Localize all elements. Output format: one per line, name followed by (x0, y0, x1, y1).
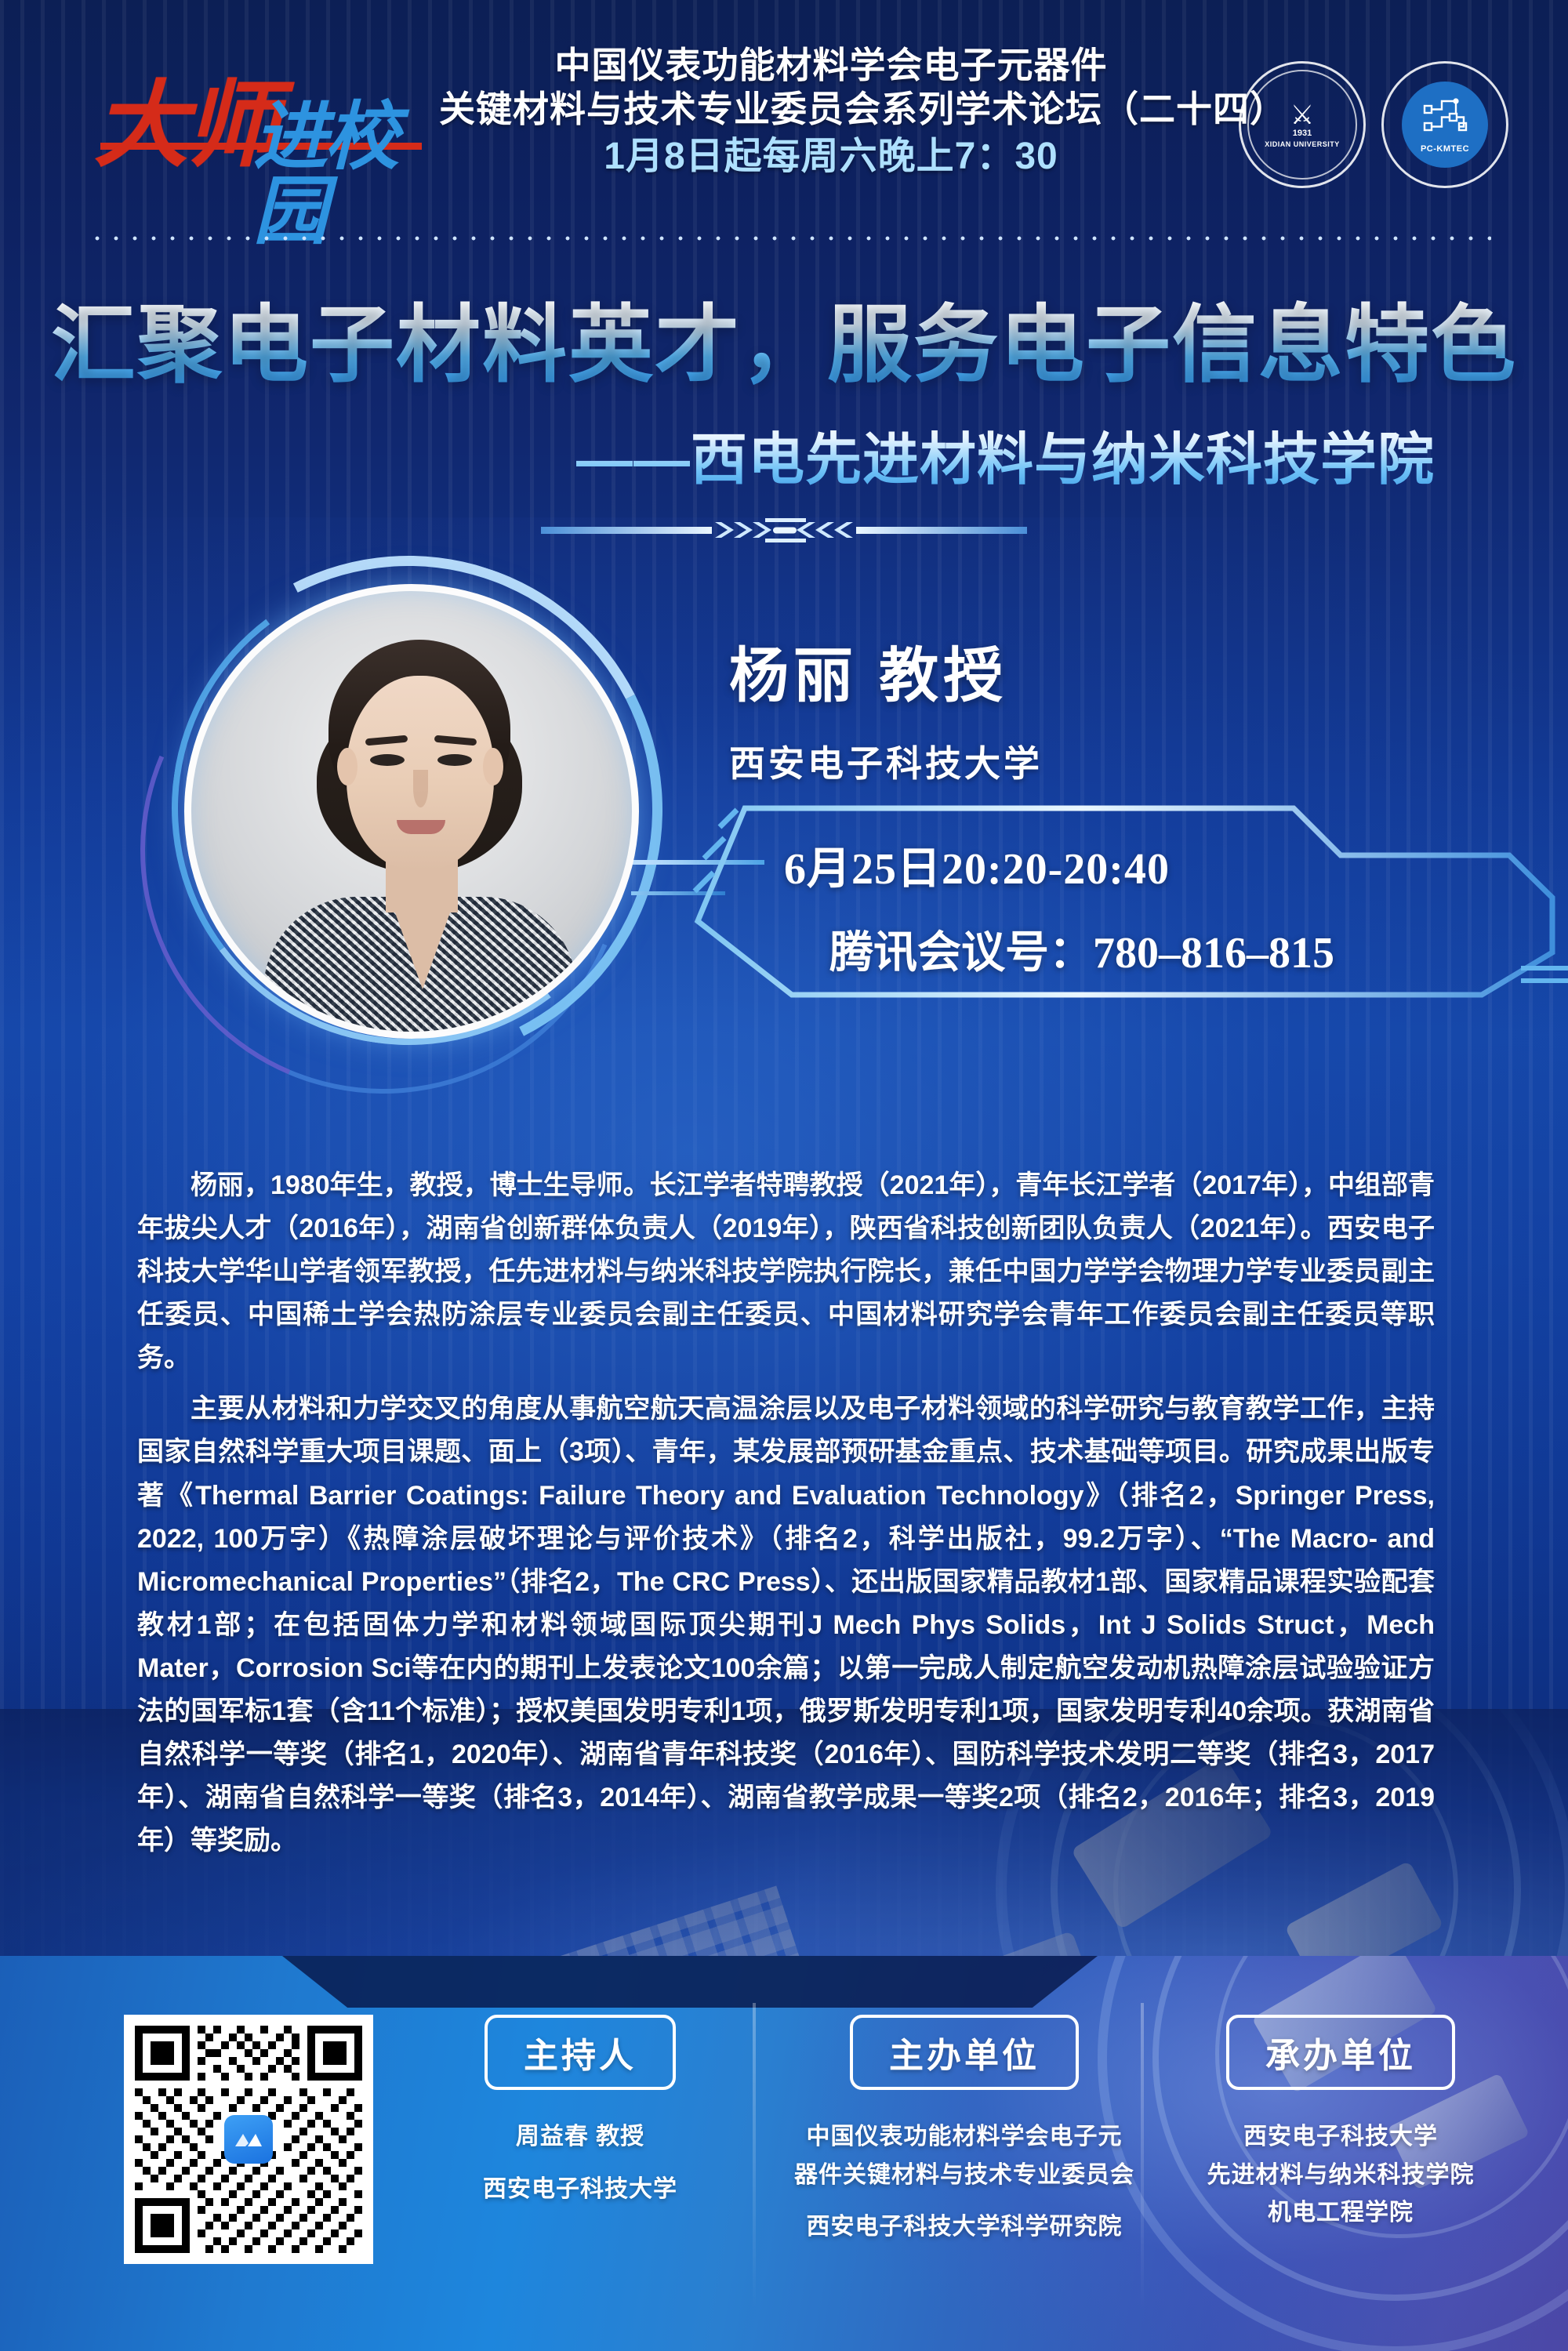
meeting-id-label: 腾讯会议号： (829, 929, 1093, 978)
host-line-2: 西安电子科技大学 (416, 2171, 745, 2209)
poster-canvas: 大师 进校园 中国仪表功能材料学会电子元器件 关键材料与技术专业委员会系列学术论… (0, 0, 1568, 2351)
page-subtitle: ——西电先进材料与纳米科技学院 (0, 413, 1568, 495)
host-line-1: 周益春 教授 (416, 2118, 745, 2157)
host-label: 主持人 (485, 2015, 676, 2090)
speaker-photo (191, 591, 632, 1032)
footer-column-host: 主持人 周益春 教授 西安电子科技大学 (416, 2015, 745, 2208)
brand-logo: 大师 进校园 (93, 56, 422, 201)
seal-en-name: PC-KMTEC (1421, 144, 1469, 154)
seal-core: ⚔ 1931 XIDIAN UNIVERSITY (1259, 82, 1345, 168)
title-block: 汇聚电子材料英才，服务电子信息特色 ——西电先进材料与纳米科技学院 (0, 298, 1568, 495)
footer-column-organizer: 主办单位 中国仪表功能材料学会电子元 器件关键材料与技术专业委员会 西安电子科技… (792, 2015, 1137, 2247)
speaker-affiliation: 西安电子科技大学 (729, 735, 1466, 787)
logo-text-red: 大师 (94, 78, 276, 172)
avatar (184, 584, 639, 1039)
header-line-1: 中国仪表功能材料学会电子元器件 (439, 43, 1223, 87)
header-title-block: 中国仪表功能材料学会电子元器件 关键材料与技术专业委员会系列学术论坛（二十四） … (439, 43, 1223, 180)
meeting-time: 6月25日20:20-20:40 (784, 833, 1490, 897)
footer-notch (282, 1956, 1098, 2008)
executor-line-1: 西安电子科技大学 (1176, 2118, 1505, 2157)
bird-emblem-icon: ⚔ (1290, 102, 1314, 129)
speaker-biography: 杨丽，1980年生，教授，博士生导师。长江学者特聘教授（2021年），青年长江学… (137, 1164, 1435, 1870)
qr-code[interactable] (124, 2015, 373, 2264)
executor-lines: 西安电子科技大学 先进材料与纳米科技学院 机电工程学院 (1176, 2118, 1505, 2233)
host-lines: 周益春 教授 西安电子科技大学 (416, 2118, 745, 2208)
xidian-university-seal: ⚔ 1931 XIDIAN UNIVERSITY (1239, 61, 1366, 188)
ornamental-divider (533, 508, 1035, 552)
seal-en-name: XIDIAN UNIVERSITY (1265, 140, 1340, 148)
circuit-icon (1418, 96, 1472, 142)
speaker-info: 杨丽 教授 西安电子科技大学 (729, 627, 1466, 787)
meeting-id: 腾讯会议号：780–816–815 (784, 917, 1490, 981)
footer-column-executor: 承办单位 西安电子科技大学 先进材料与纳米科技学院 机电工程学院 (1176, 2015, 1505, 2233)
header-line-3: 1月8日起每周六晚上7：30 (439, 134, 1223, 180)
executor-label: 承办单位 (1226, 2015, 1455, 2090)
seal-year: 1931 (1293, 129, 1312, 138)
seal-core: PC-KMTEC (1402, 82, 1488, 168)
executor-line-2: 先进材料与纳米科技学院 (1176, 2157, 1505, 2195)
executor-line-3: 机电工程学院 (1176, 2194, 1505, 2233)
bio-paragraph-2: 主要从材料和力学交叉的角度从事航空航天高温涂层以及电子材料领域的科学研究与教育教… (137, 1388, 1435, 1863)
pckmtec-seal: PC-KMTEC (1381, 61, 1508, 188)
organizer-line-2: 器件关键材料与技术专业委员会 (792, 2157, 1137, 2195)
bio-paragraph-1: 杨丽，1980年生，教授，博士生导师。长江学者特聘教授（2021年），青年长江学… (137, 1164, 1435, 1380)
logo-text-blue: 进校园 (253, 100, 422, 249)
organizer-line-1: 中国仪表功能材料学会电子元 (792, 2118, 1137, 2157)
organizer-line-3: 西安电子科技大学科学研究院 (792, 2208, 1137, 2247)
organizer-label: 主办单位 (850, 2015, 1079, 2090)
qr-code-pattern (135, 2026, 362, 2253)
organizer-lines: 中国仪表功能材料学会电子元 器件关键材料与技术专业委员会 西安电子科技大学科学研… (792, 2118, 1137, 2247)
tencent-meeting-logo-icon (224, 2115, 273, 2164)
speaker-name: 杨丽 教授 (729, 627, 1466, 713)
meeting-text: 6月25日20:20-20:40 腾讯会议号：780–816–815 (784, 833, 1490, 981)
meeting-id-value: 780–816–815 (1093, 929, 1334, 978)
meeting-info-panel: 6月25日20:20-20:40 腾讯会议号：780–816–815 (690, 804, 1568, 1000)
footer-separator-1 (753, 2003, 756, 2309)
header-dotted-divider (88, 235, 1491, 241)
footer-separator-2 (1141, 2003, 1144, 2309)
header: 大师 进校园 中国仪表功能材料学会电子元器件 关键材料与技术专业委员会系列学术论… (0, 0, 1568, 235)
header-line-2: 关键材料与技术专业委员会系列学术论坛（二十四） (439, 87, 1223, 131)
speaker-portrait-block (137, 553, 678, 1101)
page-title: 汇聚电子材料英才，服务电子信息特色 (0, 298, 1568, 393)
